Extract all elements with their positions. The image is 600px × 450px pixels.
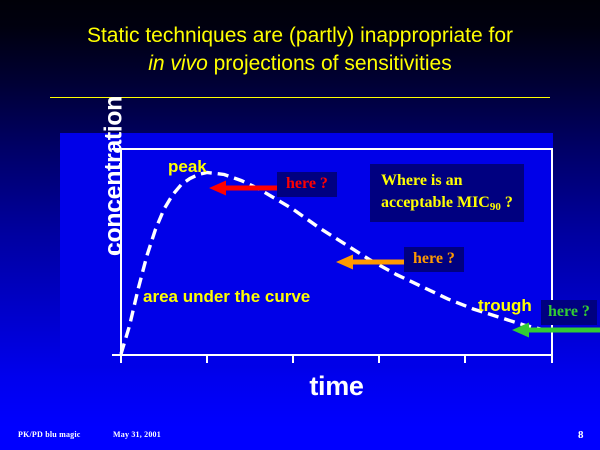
page-title: Static techniques are (partly) inappropr… <box>0 22 600 78</box>
slide: Static techniques are (partly) inappropr… <box>0 0 600 450</box>
callout-trough-here: here ? <box>541 300 597 325</box>
mic-question-mark: ? <box>501 194 513 211</box>
title-line-1: Static techniques are (partly) inappropr… <box>0 22 600 50</box>
callout-mic90-question: Where is an acceptable MIC90 ? <box>370 164 524 222</box>
title-italic-term: in vivo <box>148 52 208 75</box>
mic-subscript: 90 <box>490 201 501 213</box>
mic-question-line-1: Where is an <box>381 170 513 192</box>
mic-question-line-2: acceptable MIC90 ? <box>381 192 513 215</box>
callout-peak-here: here ? <box>277 172 337 197</box>
chart-label-peak: peak <box>168 157 207 177</box>
footer-source-label: PK/PD blu magic <box>18 430 81 439</box>
chart-label-area-under-the-curve: area under the curve <box>143 287 310 307</box>
chart-label-trough: trough <box>478 296 532 316</box>
title-line-2: in vivo projections of sensitivities <box>0 50 600 78</box>
orange-pointer-arrow <box>336 254 408 270</box>
x-axis-label: time <box>120 371 553 402</box>
footer-date: May 31, 2001 <box>113 430 161 439</box>
title-line-2-rest: projections of sensitivities <box>208 52 452 75</box>
mic-label: acceptable MIC <box>381 194 490 211</box>
callout-auc-here: here ? <box>404 247 464 272</box>
red-pointer-arrow <box>209 180 281 196</box>
footer-page-number: 8 <box>578 429 584 441</box>
